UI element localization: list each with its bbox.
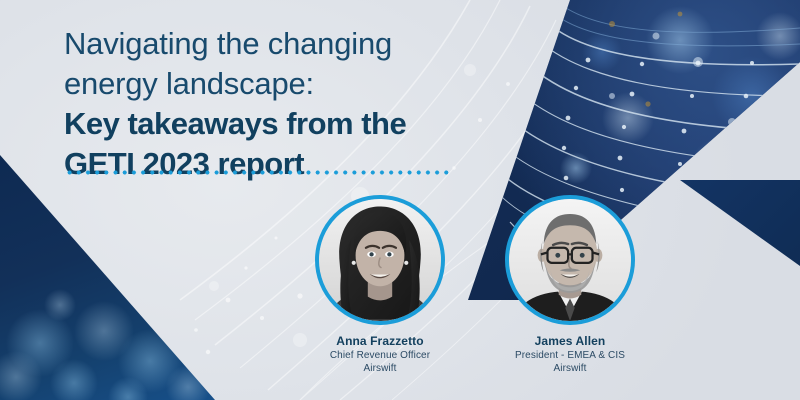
- speaker-organization: Airswift: [285, 362, 475, 375]
- speaker-name: Anna Frazzetto: [285, 334, 475, 349]
- headline-line-1: Navigating the changing: [64, 24, 494, 64]
- headline-line-2: energy landscape:: [64, 64, 494, 104]
- headline-line-3: Key takeaways from the: [64, 104, 494, 144]
- speaker-card-anna-frazzetto: Anna Frazzetto Chief Revenue Officer Air…: [285, 195, 475, 375]
- speaker-name: James Allen: [475, 334, 665, 349]
- avatar: [505, 195, 635, 325]
- portrait-woman-icon: [319, 199, 441, 321]
- speaker-role: Chief Revenue Officer: [285, 349, 475, 362]
- avatar: [315, 195, 445, 325]
- speaker-card-james-allen: James Allen President - EMEA & CIS Airsw…: [475, 195, 665, 375]
- dotted-divider: [65, 170, 451, 175]
- page-title: Navigating the changing energy landscape…: [64, 24, 494, 184]
- portrait-man-glasses-icon: [509, 199, 631, 321]
- speaker-organization: Airswift: [475, 362, 665, 375]
- headline-line-4: GETI 2023 report: [64, 144, 494, 184]
- speaker-role: President - EMEA & CIS: [475, 349, 665, 362]
- webinar-promo-banner: Navigating the changing energy landscape…: [0, 0, 800, 400]
